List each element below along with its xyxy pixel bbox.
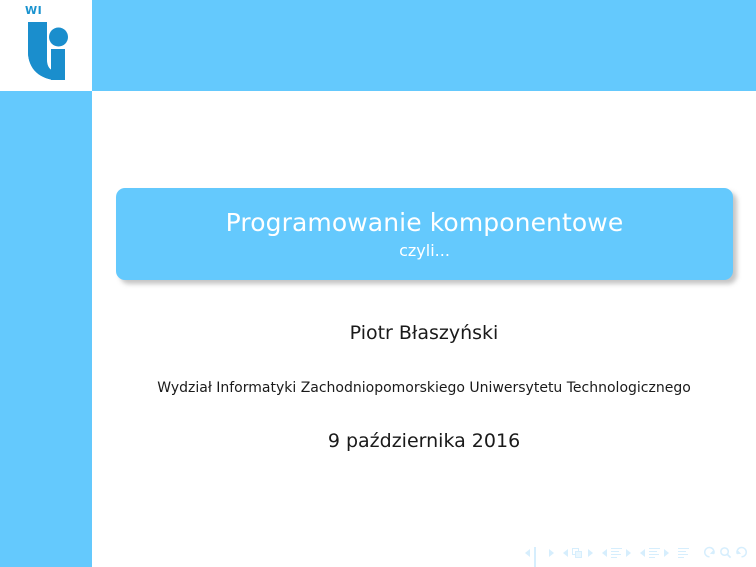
presentation-date: 9 października 2016	[92, 428, 756, 454]
forward-arrow-icon[interactable]	[735, 544, 748, 563]
stacked-frames-icon[interactable]	[572, 548, 584, 559]
prev-subsection-icon[interactable]	[602, 549, 607, 557]
title-box: Programowanie komponentowe czyli...	[116, 188, 733, 280]
prev-frame-icon[interactable]	[563, 549, 568, 557]
beamer-navigation-bar[interactable]	[525, 545, 748, 561]
slide-navigation-group[interactable]	[525, 548, 554, 559]
search-icon[interactable]	[719, 544, 732, 563]
subsection-lines-icon[interactable]	[611, 548, 622, 559]
square-icon[interactable]	[534, 548, 545, 559]
next-section-icon[interactable]	[664, 549, 669, 557]
page-subtitle: czyli...	[399, 240, 450, 262]
document-navigation-group[interactable]	[678, 548, 689, 559]
header-band	[92, 0, 756, 91]
logo-block: WI	[0, 0, 92, 91]
institute-name: Wydział Informatyki Zachodniopomorskiego…	[92, 378, 756, 398]
section-lines-icon[interactable]	[649, 548, 660, 559]
title-meta: Piotr Błaszyński Wydział Informatyki Zac…	[92, 300, 756, 454]
logo-wi-text: WI	[25, 5, 42, 17]
sidebar	[0, 91, 92, 567]
page-title: Programowanie komponentowe	[226, 208, 624, 238]
section-navigation-group[interactable]	[640, 548, 669, 559]
prev-section-icon[interactable]	[640, 549, 645, 557]
prev-slide-icon[interactable]	[525, 549, 530, 557]
subsection-navigation-group[interactable]	[602, 548, 631, 559]
zut-wi-logo-mark	[28, 22, 72, 80]
next-slide-icon[interactable]	[549, 549, 554, 557]
presentation-slide: WI Programowanie komponentowe czyli... P…	[0, 0, 756, 567]
author-name: Piotr Błaszyński	[92, 320, 756, 346]
back-arrow-icon[interactable]	[703, 544, 716, 563]
frame-navigation-group[interactable]	[563, 548, 593, 559]
next-frame-icon[interactable]	[588, 549, 593, 557]
document-lines-icon[interactable]	[678, 548, 689, 559]
next-subsection-icon[interactable]	[626, 549, 631, 557]
history-navigation-group[interactable]	[703, 544, 748, 563]
